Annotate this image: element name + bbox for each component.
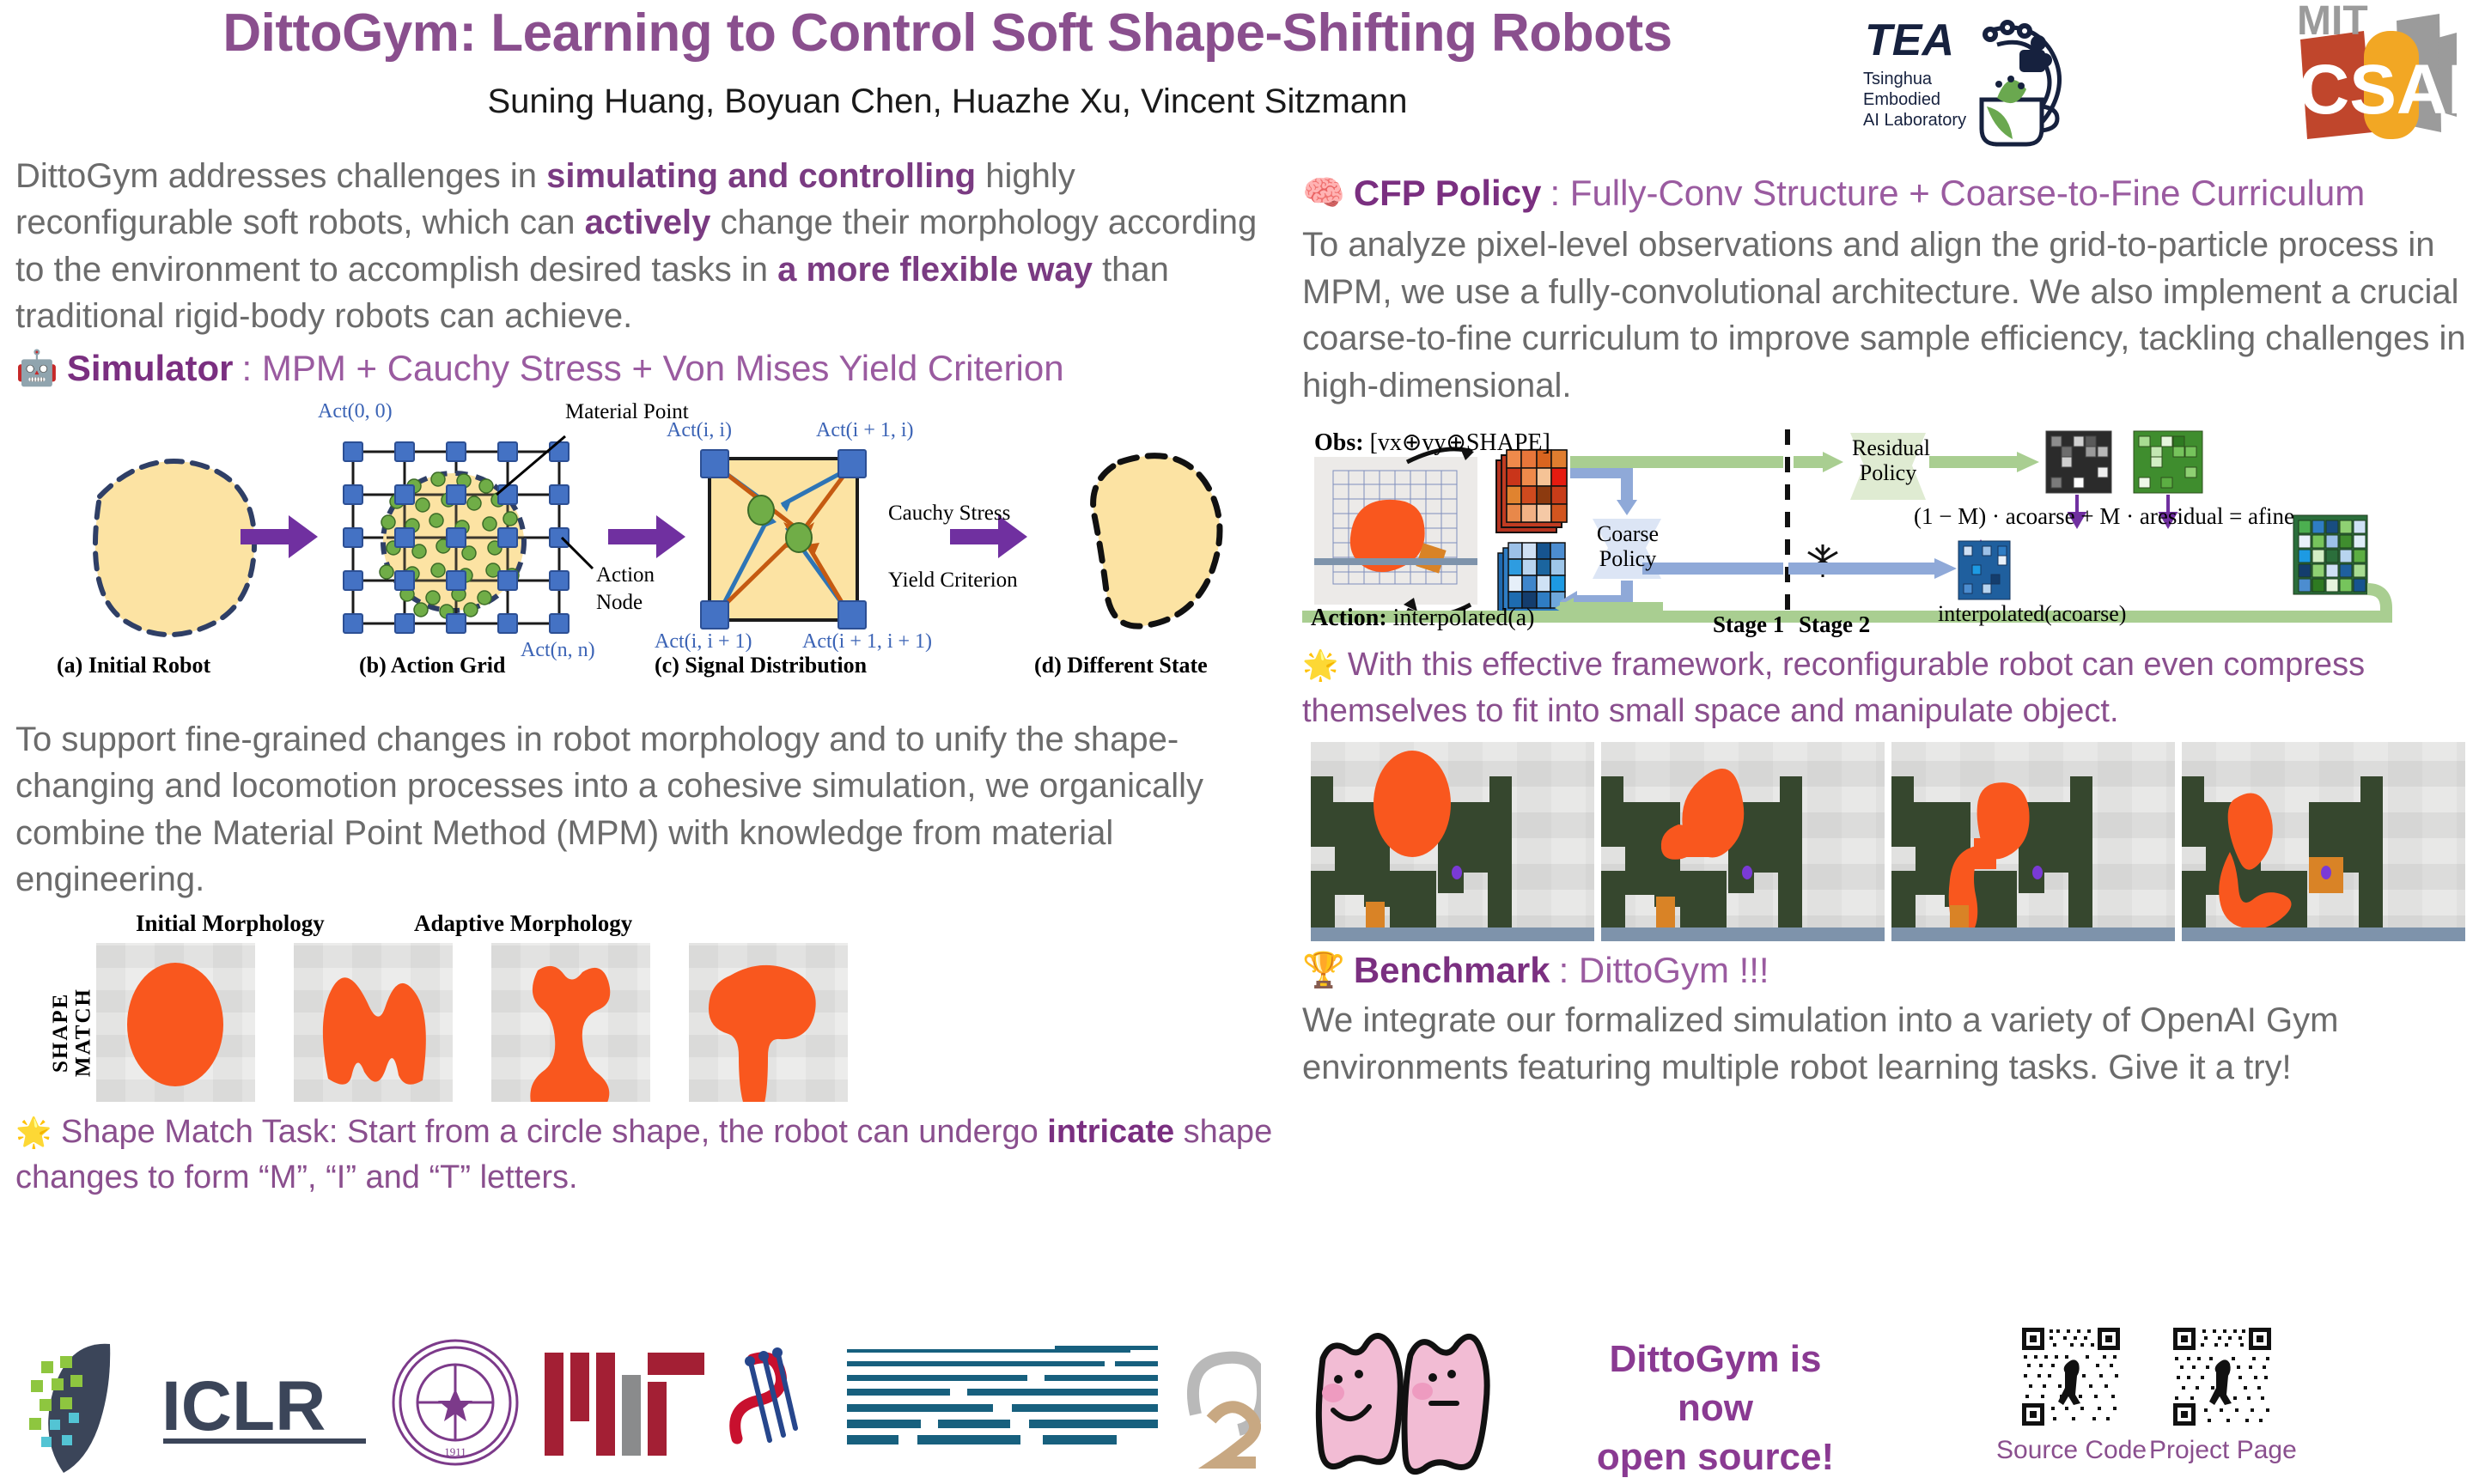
shape-match-figure: Initial Morphology Adaptive Morphology S…	[15, 909, 1218, 1106]
cfp-policy-heading: 🧠CFP Policy: Fully-Conv Structure + Coar…	[1302, 172, 2470, 215]
fig-caption-a: (a) Initial Robot	[57, 653, 210, 678]
poster-root: DittoGym: Learning to Control Soft Shape…	[0, 0, 2479, 1484]
compress-caption: 🌟 With this effective framework, reconfi…	[1302, 642, 2470, 735]
fig-caption-b: (b) Action Grid	[359, 653, 505, 678]
intro-seg-1: simulating and controlling	[546, 157, 976, 195]
compress-frame-2	[1601, 742, 1885, 941]
iiis-logo	[735, 1347, 795, 1440]
coarse-policy-label: Coarse Policy	[1594, 522, 1661, 571]
svg-text:1911: 1911	[444, 1445, 466, 1458]
mit-csail-logo: MIT CSAIL	[2139, 3, 2457, 149]
shape-match-side-line2: MATCH	[71, 988, 94, 1077]
stage-1-label: Stage 1	[1713, 611, 1784, 638]
benchmark-heading: 🏆Benchmark: DittoGym !!!	[1302, 949, 2470, 992]
robot-emoji: 🤖	[15, 351, 58, 386]
compress-frame-1	[1311, 742, 1594, 941]
shape-match-frame-i	[491, 943, 650, 1102]
fig-caption-d: (d) Different State	[1034, 653, 1208, 678]
compress-frame-3	[1891, 742, 2175, 941]
poster-header: DittoGym: Learning to Control Soft Shape…	[0, 0, 2479, 150]
act-label-bottom-right: Act(n, n)	[521, 639, 595, 662]
svg-text:ICLR: ICLR	[161, 1367, 326, 1445]
tea-lab-logo: TEA	[1860, 5, 2109, 151]
benchmark-paragraph: We integrate our formalized simulation i…	[1302, 997, 2470, 1091]
star-emoji-left: 🌟	[15, 1116, 52, 1149]
svg-text:MIT: MIT	[2297, 3, 2368, 44]
intro-seg-5: a more flexible way	[777, 251, 1093, 289]
tea-logo-line3: AI Laboratory	[1863, 111, 1966, 130]
star-emoji-right: 🌟	[1302, 649, 1338, 682]
author-list: Suning Huang, Boyuan Chen, Huazhe Xu, Vi…	[41, 82, 1854, 120]
tea-logo-line2: Embodied	[1863, 90, 1940, 109]
svg-text:CSAIL: CSAIL	[2299, 51, 2457, 129]
iclr-logo: ICLR	[29, 1344, 366, 1473]
svg-text:TEA: TEA	[1865, 15, 1954, 65]
adaptive-morphology-header: Adaptive Morphology	[414, 910, 632, 937]
action-node-label-line1: Action	[596, 563, 655, 587]
compress-caption-text: With this effective framework, reconfigu…	[1302, 647, 2365, 729]
compress-sequence-figure	[1302, 742, 2467, 944]
obs-label-prefix: Obs:	[1314, 429, 1364, 456]
shape-match-frame-m	[294, 943, 453, 1102]
open-source-line-1: DittoGym is now	[1574, 1335, 1857, 1432]
qr-code-source[interactable]	[2020, 1326, 2122, 1427]
blend-equation: (1 − M) · acoarse + M · aresidual = afin…	[1914, 503, 2294, 530]
interpolated-coarse-label: interpolated(acoarse)	[1938, 601, 2126, 627]
act-label-top-left: Act(0, 0)	[318, 400, 393, 423]
yield-criterion-label: Yield Criterion	[888, 569, 1018, 593]
action-label-prefix: Action:	[1311, 605, 1387, 631]
action-node-label-line2: Node	[596, 591, 643, 615]
intro-seg-3: actively	[585, 204, 711, 241]
qr-caption-source: Source Code	[1996, 1436, 2147, 1465]
shape-match-side-label: SHAPE MATCH	[50, 958, 95, 1106]
brain-emoji: 🧠	[1302, 176, 1345, 210]
cfp-paragraph: To analyze pixel-level observations and …	[1302, 222, 2470, 409]
benchmark-heading-bold: Benchmark	[1354, 949, 1550, 992]
open-source-message: DittoGym is now open source!	[1574, 1335, 1857, 1482]
act-label-cell-bottom-right: Act(i + 1, i + 1)	[802, 630, 932, 654]
right-column: 🧠CFP Policy: Fully-Conv Structure + Coar…	[1302, 172, 2470, 1091]
page-title: DittoGym: Learning to Control Soft Shape…	[41, 5, 1854, 61]
shape-match-frame-circle	[96, 943, 255, 1102]
cfp-heading-rest: : Fully-Conv Structure + Coarse-to-Fine …	[1550, 172, 2365, 215]
act-label-cell-top-right: Act(i + 1, i)	[816, 419, 914, 442]
residual-policy-label: Residual Policy	[1852, 436, 1924, 485]
cfp-heading-bold: CFP Policy	[1354, 172, 1542, 215]
intro-paragraph: DittoGym addresses challenges in simulat…	[15, 153, 1287, 340]
simulator-heading: 🤖Simulator: MPM + Cauchy Stress + Von Mi…	[15, 347, 1287, 390]
act-label-cell-bottom-left: Act(i, i + 1)	[655, 630, 752, 654]
institute-bars-logo	[847, 1346, 1158, 1444]
benchmark-heading-rest: : DittoGym !!!	[1559, 949, 1769, 992]
simulator-heading-bold: Simulator	[67, 347, 234, 390]
stage-2-label: Stage 2	[1799, 611, 1870, 638]
shape-match-side-line1: SHAPE	[49, 992, 72, 1072]
obs-label: Obs: [vx⊕vy⊕SHAPE]	[1314, 428, 1550, 457]
qizhi-logo	[1193, 1358, 1261, 1463]
action-label-value: interpolated(a)	[1393, 605, 1535, 631]
cfp-architecture-diagram: Obs: [vx⊕vy⊕SHAPE] Action: interpolated(…	[1302, 417, 2470, 632]
trophy-emoji: 🏆	[1302, 953, 1345, 988]
qr-caption-project: Project Page	[2149, 1436, 2297, 1465]
left-column: DittoGym addresses challenges in simulat…	[15, 153, 1287, 1201]
tea-logo-line1: Tsinghua	[1863, 70, 1933, 88]
mit-bars-logo	[545, 1353, 704, 1456]
ditto-mascots	[1302, 1321, 1560, 1480]
simulator-heading-rest: : MPM + Cauchy Stress + Von Mises Yield …	[242, 347, 1064, 390]
obs-label-value: [vx⊕vy⊕SHAPE]	[1370, 429, 1550, 456]
shape-match-caption-seg-1: intricate	[1047, 1114, 1174, 1150]
shape-match-frame-t	[689, 943, 848, 1102]
open-source-footer: DittoGym is now open source!	[1302, 1316, 2479, 1484]
shape-match-caption: 🌟 Shape Match Task: Start from a circle …	[15, 1110, 1287, 1202]
cauchy-stress-label: Cauchy Stress	[888, 502, 1010, 526]
sponsor-logo-row: ICLR 1911	[15, 1327, 1261, 1477]
qr-code-project[interactable]	[2171, 1326, 2273, 1427]
mpm-paragraph: To support fine-grained changes in robot…	[15, 716, 1287, 903]
action-label: Action: interpolated(a)	[1311, 605, 1534, 632]
shape-match-caption-seg-0: Shape Match Task: Start from a circle sh…	[61, 1114, 1047, 1150]
fig-caption-c: (c) Signal Distribution	[655, 653, 867, 678]
open-source-line-2: open source!	[1574, 1432, 1857, 1481]
mpm-figure: Act(0, 0) Act(n, n) Material Point Actio…	[15, 400, 1278, 709]
compress-frame-4	[2182, 742, 2465, 941]
initial-morphology-header: Initial Morphology	[136, 910, 325, 937]
intro-seg-0: DittoGym addresses challenges in	[15, 157, 546, 195]
act-label-cell-top-left: Act(i, i)	[667, 419, 732, 442]
